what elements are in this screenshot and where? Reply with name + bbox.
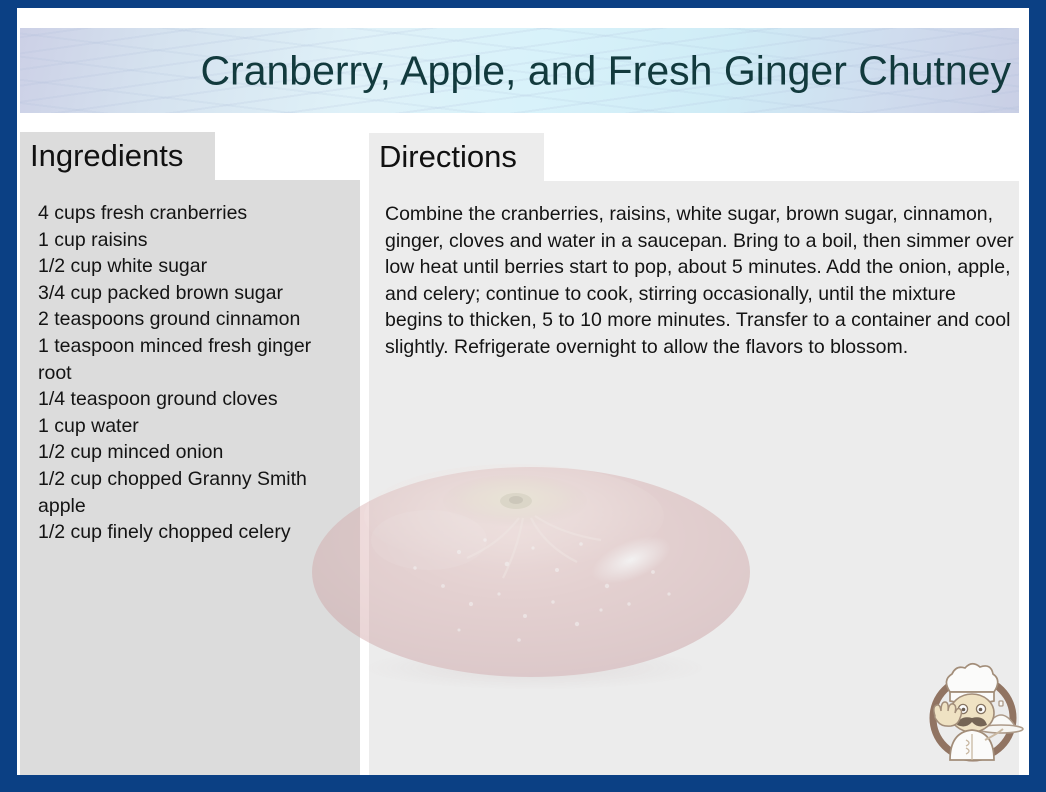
ingredient-item: 1/4 teaspoon ground cloves: [38, 386, 350, 413]
chef-logo-icon: [917, 656, 1029, 768]
ingredient-item: 1/2 cup chopped Granny Smith apple: [38, 466, 350, 519]
ingredient-item: 1/2 cup finely chopped celery: [38, 519, 350, 546]
ingredient-item: 1 cup raisins: [38, 227, 350, 254]
directions-header-label: Directions: [379, 139, 517, 175]
ingredient-item: 3/4 cup packed brown sugar: [38, 280, 350, 307]
page-title: Cranberry, Apple, and Fresh Ginger Chutn…: [200, 47, 1011, 94]
recipe-slide: Cranberry, Apple, and Fresh Ginger Chutn…: [0, 0, 1046, 792]
slide-page: Cranberry, Apple, and Fresh Ginger Chutn…: [17, 8, 1029, 775]
ingredients-header-tab: Ingredients: [20, 132, 215, 180]
directions-body: Combine the cranberries, raisins, white …: [385, 201, 1015, 360]
ingredient-item: 1 cup water: [38, 413, 350, 440]
ingredient-item: 2 teaspoons ground cinnamon: [38, 306, 350, 333]
ingredients-header-label: Ingredients: [30, 138, 183, 174]
ingredient-item: 1/2 cup minced onion: [38, 439, 350, 466]
directions-header-tab: Directions: [369, 133, 544, 181]
ingredient-item: 1 teaspoon minced fresh ginger root: [38, 333, 350, 386]
ingredient-item: 1/2 cup white sugar: [38, 253, 350, 280]
title-banner: Cranberry, Apple, and Fresh Ginger Chutn…: [20, 28, 1019, 113]
ingredient-item: 4 cups fresh cranberries: [38, 200, 350, 227]
ingredients-panel: 4 cups fresh cranberries1 cup raisins1/2…: [20, 180, 360, 775]
ingredients-list: 4 cups fresh cranberries1 cup raisins1/2…: [38, 200, 350, 546]
